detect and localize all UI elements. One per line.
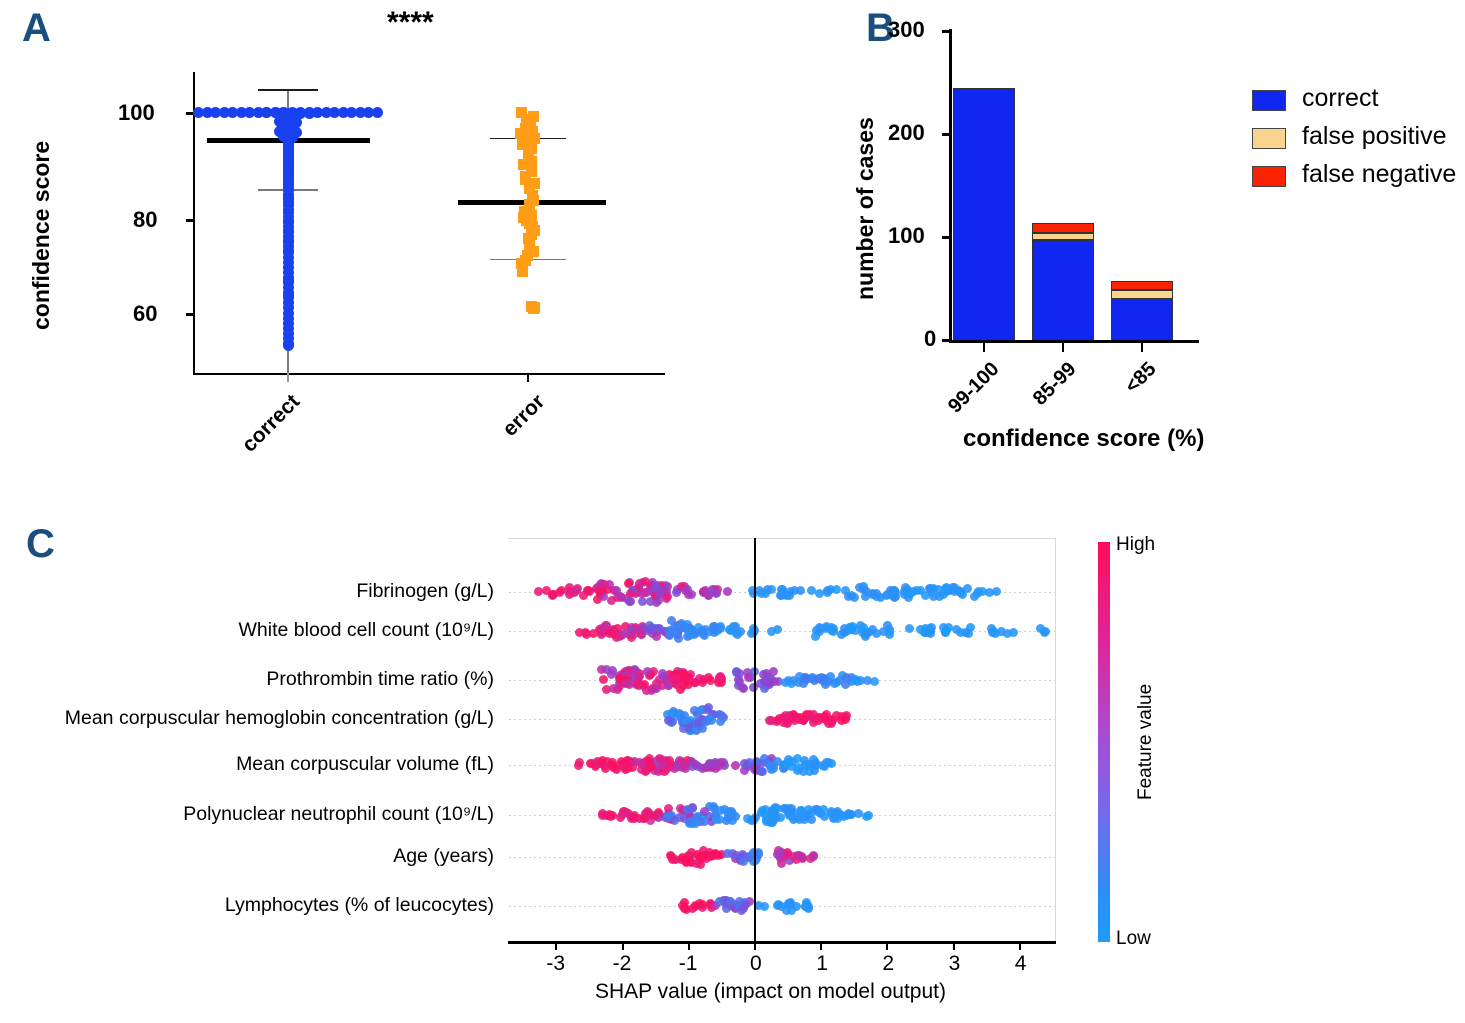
panel-c-xtick-label: 2 [882, 952, 894, 976]
panel-b-bar-segment [1111, 290, 1173, 298]
shap-point [691, 760, 700, 769]
shap-point [715, 673, 724, 682]
shap-point [864, 811, 873, 820]
panel-a-point-correct [283, 340, 294, 351]
shap-plot-top-border [508, 538, 1056, 539]
shap-point [812, 626, 821, 635]
panel-b-xtick-3 [1141, 343, 1143, 352]
panel-a-ytick-60: 60 [133, 301, 157, 327]
shap-point [688, 804, 697, 813]
panel-b-x-axis-label: confidence score (%) [963, 425, 1204, 453]
shap-point [992, 587, 1001, 596]
shap-point [608, 758, 617, 767]
shap-point [799, 679, 808, 688]
panel-b-bar-segment [1032, 233, 1094, 240]
panel-a-category-correct: correct [210, 390, 305, 485]
panel-b-bar-segment [1032, 240, 1094, 340]
panel-b: B number of cases 300 200 100 0 99-100 8… [840, 0, 1465, 460]
panel-c-xtick-mark [886, 941, 888, 950]
shap-point [925, 584, 934, 593]
shap-point [716, 717, 725, 726]
panel-c-xtick-mark [820, 941, 822, 950]
shap-feature-label: Prothrombin time ratio (%) [0, 668, 494, 691]
shap-point [769, 761, 778, 770]
shap-feature-label: Mean corpuscular hemoglobin concentratio… [0, 707, 494, 730]
panel-c-xtick-label: 0 [750, 952, 762, 976]
shap-zero-line [754, 538, 756, 941]
shap-point [628, 813, 637, 822]
feature-value-colorbar [1098, 542, 1110, 942]
shap-point [900, 590, 909, 599]
shap-point [602, 665, 611, 674]
panel-c-xtick-mark [688, 941, 690, 950]
shap-point [885, 630, 894, 639]
shap-point [876, 593, 885, 602]
panel-c-x-axis [508, 941, 1056, 944]
shap-point [786, 587, 795, 596]
panel-b-bar-segment [1111, 281, 1173, 290]
shap-point [664, 716, 673, 725]
panel-a-point-correct [372, 107, 383, 118]
shap-point [794, 813, 803, 822]
legend-swatch-false-negative [1252, 166, 1286, 187]
panel-b-y-axis-label: number of cases [852, 117, 879, 300]
shap-point [596, 759, 605, 768]
shap-feature-label: Lymphocytes (% of leucocytes) [0, 894, 494, 917]
panel-a-ytick-80: 80 [133, 207, 157, 233]
panel-a-xtick-correct [287, 373, 289, 382]
shap-point [802, 900, 811, 909]
shap-point [773, 625, 782, 634]
panel-b-x-axis [949, 340, 1199, 343]
panel-a-letter: A [22, 8, 51, 48]
legend-label-correct: correct [1302, 84, 1378, 113]
shap-point [665, 756, 674, 765]
shap-point [941, 628, 950, 637]
shap-feature-label: Polynuclear neutrophil count (10⁹/L) [0, 803, 494, 826]
shap-point [863, 676, 872, 685]
shap-point [723, 849, 732, 858]
panel-a-category-error: error [469, 390, 550, 471]
panel-c-x-axis-label: SHAP value (impact on model output) [595, 980, 946, 1004]
panel-b-y-axis [949, 29, 952, 342]
shap-point [675, 813, 684, 822]
panel-b-ytick-0: 0 [924, 326, 936, 352]
panel-c-xtick-label: 4 [1015, 952, 1027, 976]
panel-c-xtick-label: -2 [613, 952, 632, 976]
shap-point [665, 631, 674, 640]
shap-point [599, 675, 608, 684]
shap-point [584, 586, 593, 595]
panel-b-bar-segment [1111, 299, 1173, 340]
colorbar-high-label: High [1116, 534, 1155, 556]
shap-point [787, 679, 796, 688]
panel-a-x-axis [193, 373, 665, 375]
shap-point [648, 684, 657, 693]
panel-b-bar-segment [953, 88, 1015, 340]
panel-c-xtick-mark [953, 941, 955, 950]
colorbar-title: Feature value [1135, 684, 1157, 800]
panel-c-xtick-mark [622, 941, 624, 950]
shap-point [731, 761, 740, 770]
panel-b-bar-segment [1032, 223, 1094, 232]
panel-a-y-axis [193, 72, 195, 374]
shap-point [820, 762, 829, 771]
panel-a: A **** confidence score 100 80 60 correc… [0, 0, 700, 460]
panel-c-xtick-mark [754, 941, 756, 950]
shap-point [942, 583, 951, 592]
shap-point [699, 675, 708, 684]
shap-point [638, 597, 647, 606]
significance-annotation: **** [387, 6, 434, 40]
shap-feature-label: Mean corpuscular volume (fL) [0, 753, 494, 776]
panel-a-correct-sd-upper-cap [258, 89, 318, 91]
shap-point [643, 626, 652, 635]
shap-point [662, 765, 671, 774]
shap-point [735, 669, 744, 678]
shap-point [1009, 628, 1018, 637]
panel-c-xtick-label: 3 [949, 952, 961, 976]
panel-c-xtick-mark [1019, 941, 1021, 950]
shap-point [777, 591, 786, 600]
panel-c: C Fibrinogen (g/L)White blood cell count… [0, 500, 1465, 1023]
shap-point [905, 624, 914, 633]
panel-a-ytick-100: 100 [118, 100, 155, 126]
panel-a-y-axis-label: confidence score [28, 141, 55, 330]
shap-point [964, 629, 973, 638]
shap-point [725, 813, 734, 822]
panel-a-point-correct [304, 108, 315, 119]
shap-point [641, 767, 650, 776]
legend-swatch-correct [1252, 90, 1286, 111]
panel-b-xtick-2 [1062, 343, 1064, 352]
panel-b-ytick-100: 100 [888, 223, 925, 249]
shap-point [650, 811, 659, 820]
shap-point [625, 666, 634, 675]
shap-point [763, 585, 772, 594]
shap-point [643, 667, 652, 676]
shap-point [598, 811, 607, 820]
legend-label-false-negative: false negative [1302, 160, 1456, 189]
shap-point [752, 757, 761, 766]
legend-label-false-positive: false positive [1302, 122, 1447, 151]
panel-c-xtick-label: -3 [546, 952, 565, 976]
shap-point [793, 754, 802, 763]
shap-point [851, 675, 860, 684]
shap-point [861, 632, 870, 641]
figure-root: A **** confidence score 100 80 60 correc… [0, 0, 1465, 1023]
shap-point [572, 586, 581, 595]
shap-point [623, 764, 632, 773]
shap-point [690, 630, 699, 639]
panel-a-point-error [528, 303, 539, 314]
shap-point [616, 592, 625, 601]
shap-point [807, 586, 816, 595]
shap-point [682, 673, 691, 682]
panel-c-letter: C [26, 524, 55, 564]
shap-point [837, 630, 846, 639]
shap-point [715, 897, 724, 906]
shap-point [832, 585, 841, 594]
shap-point [846, 810, 855, 819]
shap-point [723, 587, 732, 596]
shap-point [859, 623, 868, 632]
shap-point [997, 627, 1006, 636]
shap-point [674, 634, 683, 643]
shap-feature-label: Age (years) [0, 845, 494, 868]
panel-c-xtick-label: 1 [816, 952, 828, 976]
panel-a-point-error [517, 266, 528, 277]
panel-a-xtick-error [527, 373, 529, 382]
shap-point [844, 592, 853, 601]
panel-b-ytick-200: 200 [888, 120, 925, 146]
shap-feature-label: White blood cell count (10⁹/L) [0, 619, 494, 642]
panel-c-xtick-label: -1 [679, 952, 698, 976]
shap-point [819, 674, 828, 683]
shap-point [763, 678, 772, 687]
panel-b-ytick-300: 300 [888, 17, 925, 43]
shap-plot-right-border [1055, 538, 1056, 941]
shap-point [680, 898, 689, 907]
panel-c-xtick-mark [555, 941, 557, 950]
panel-b-xtick-1 [983, 343, 985, 352]
shap-point [888, 590, 897, 599]
shap-point [601, 621, 610, 630]
colorbar-low-label: Low [1116, 928, 1151, 950]
shap-point [634, 679, 643, 688]
shap-point [625, 597, 634, 606]
legend-swatch-false-positive [1252, 128, 1286, 149]
shap-feature-label: Fibrinogen (g/L) [0, 580, 494, 603]
